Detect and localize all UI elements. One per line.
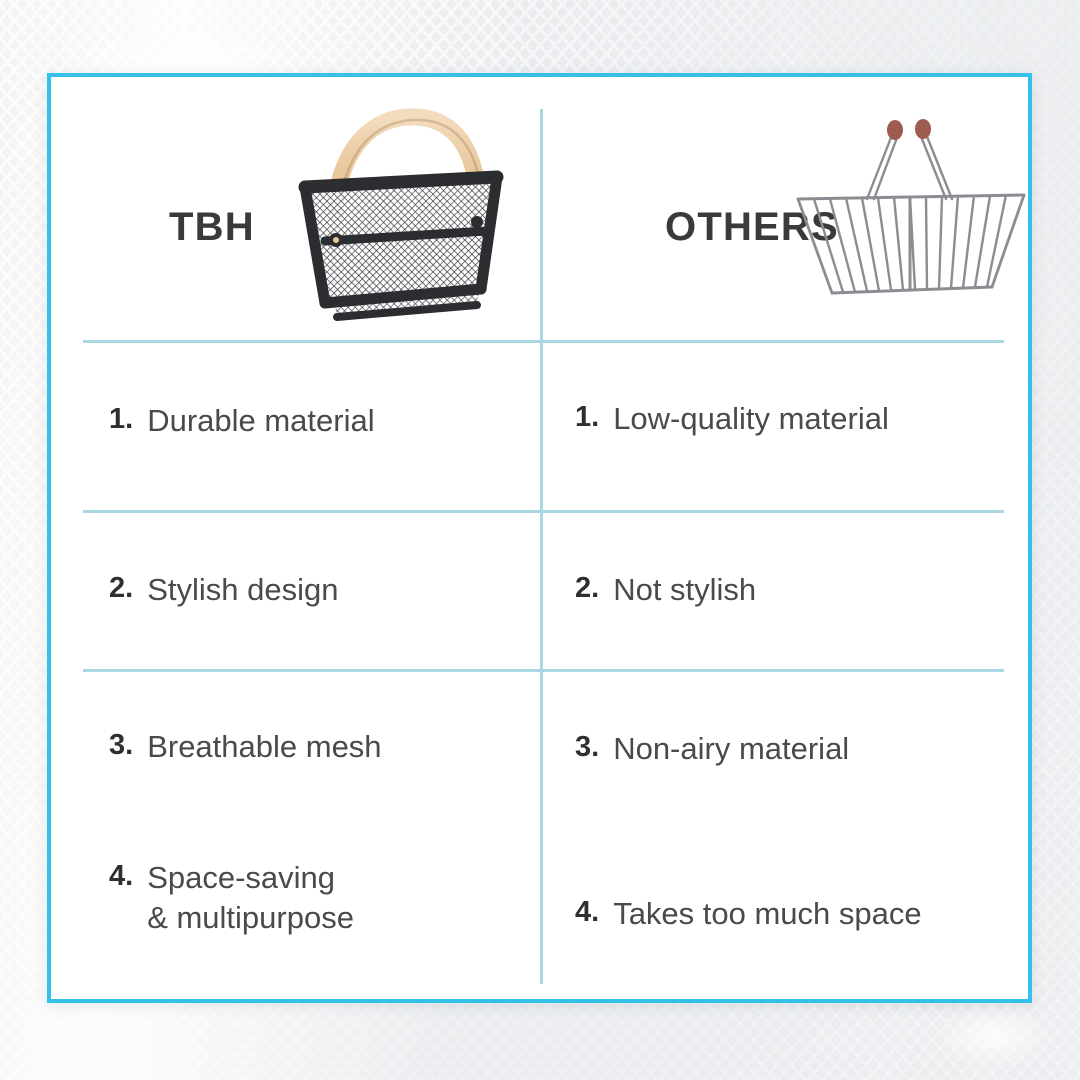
list-item: 1. Durable material xyxy=(109,401,375,441)
list-item-label: Durable material xyxy=(147,401,374,441)
list-item-number: 1. xyxy=(575,399,599,436)
list-item-label: Stylish design xyxy=(147,570,338,610)
table-cell-others-4: 4. Takes too much space xyxy=(543,824,1032,984)
table-cell-others-2: 2. Not stylish xyxy=(543,510,1032,669)
list-item: 4. Space-saving & multipurpose xyxy=(109,858,354,937)
table-cell-tbh-4: 4. Space-saving & multipurpose xyxy=(51,824,540,984)
black-mesh-basket-with-wooden-handle-icon xyxy=(281,91,531,331)
list-item-number: 4. xyxy=(575,894,599,931)
list-item: 2. Not stylish xyxy=(575,570,756,610)
list-item: 2. Stylish design xyxy=(109,570,338,610)
list-item-label: Breathable mesh xyxy=(147,727,381,767)
column-heading-label: TBH xyxy=(169,205,255,250)
list-item: 4. Takes too much space xyxy=(575,894,922,934)
list-item-number: 2. xyxy=(575,570,599,607)
column-header-tbh: TBH xyxy=(51,77,540,340)
comparison-row: 2. Stylish design 2. Not stylish xyxy=(51,510,1028,669)
comparison-row: 1. Durable material 1. Low-quality mater… xyxy=(51,340,1028,510)
list-item-label: Non-airy material xyxy=(613,729,849,769)
table-cell-others-1: 1. Low-quality material xyxy=(543,340,1032,510)
comparison-card: TBH xyxy=(47,73,1032,1003)
list-item-number: 2. xyxy=(109,570,133,607)
list-item: 1. Low-quality material xyxy=(575,399,889,439)
comparison-row: 4. Space-saving & multipurpose 4. Takes … xyxy=(51,824,1028,984)
list-item-label: Low-quality material xyxy=(613,399,889,439)
column-header-others: OTHERS xyxy=(543,77,1032,340)
table-cell-tbh-1: 1. Durable material xyxy=(51,340,540,510)
list-item-number: 3. xyxy=(109,727,133,764)
list-item-number: 4. xyxy=(109,858,133,895)
list-item-number: 1. xyxy=(109,401,133,438)
table-cell-others-3: 3. Non-airy material xyxy=(543,669,1032,824)
comparison-row: 3. Breathable mesh 3. Non-airy material xyxy=(51,669,1028,824)
list-item-number: 3. xyxy=(575,729,599,766)
list-item: 3. Non-airy material xyxy=(575,729,849,769)
table-cell-tbh-3: 3. Breathable mesh xyxy=(51,669,540,824)
list-item-label: Space-saving & multipurpose xyxy=(147,858,354,937)
list-item-label: Takes too much space xyxy=(613,894,921,934)
list-item-label: Not stylish xyxy=(613,570,756,610)
wire-shopping-basket-icon xyxy=(788,107,1033,307)
table-cell-tbh-2: 2. Stylish design xyxy=(51,510,540,669)
list-item: 3. Breathable mesh xyxy=(109,727,382,767)
